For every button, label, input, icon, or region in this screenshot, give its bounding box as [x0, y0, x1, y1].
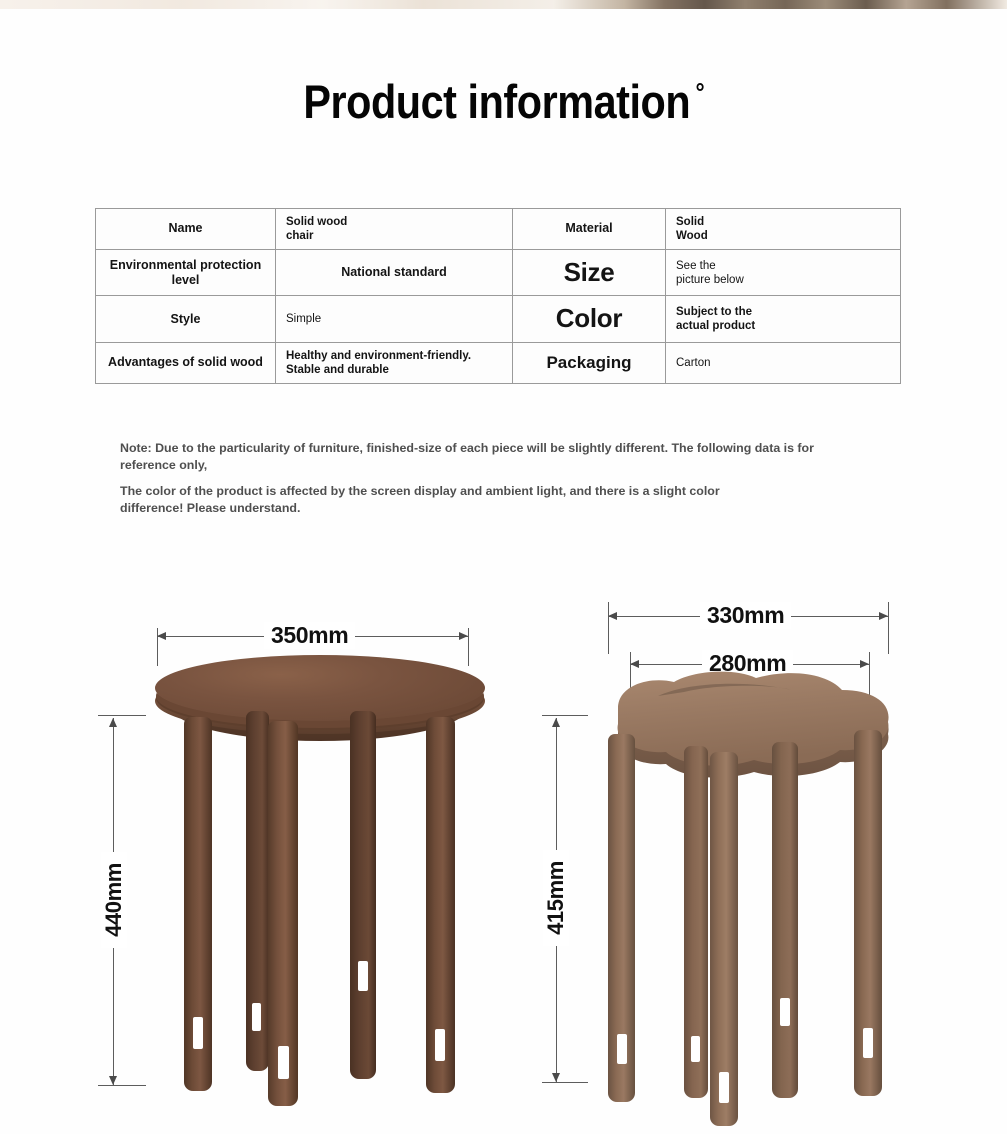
stool-leg-back-right [350, 711, 376, 1079]
spec-key-environmental-protection-level: Environmental protection level [96, 250, 276, 296]
spec-value-line: actual product [676, 319, 890, 333]
dim-arrow-right [459, 632, 468, 640]
spec-key-line: Advantages of [108, 355, 194, 369]
spec-value-color: Subject to the actual product [666, 296, 901, 342]
dim-ext-line-outer-left [608, 602, 609, 654]
leg-slot [719, 1072, 729, 1103]
page-title: Product information° [303, 74, 704, 129]
dim-arrow-outer-left [608, 612, 617, 620]
dim-arrow-inner-left [630, 660, 639, 668]
table-row: Name Solid wood chair Material Solid Woo… [96, 209, 901, 250]
leg-slot [278, 1046, 289, 1079]
spec-value-environmental-protection-level: National standard [276, 250, 513, 296]
stool-leg-front-right [426, 717, 455, 1093]
dim-arrow-left [157, 632, 166, 640]
dim-label-height-415: 415mm [543, 850, 569, 946]
spec-value-line: National standard [286, 265, 502, 280]
spec-value-line: chair [286, 229, 502, 243]
spec-value-line: Healthy and environment-friendly. [286, 349, 502, 363]
spec-value-name: Solid wood chair [276, 209, 513, 250]
spec-key-line: solid wood [198, 355, 263, 369]
spec-value-line: Carton [676, 356, 890, 370]
dim-arrow-inner-right [860, 660, 869, 668]
stool-leg-front-center [710, 752, 738, 1126]
spec-value-advantages: Healthy and environment-friendly. Stable… [276, 342, 513, 383]
spec-value-line: Subject to the [676, 305, 890, 319]
note-line: Note: Due to the particularity of furnit… [120, 440, 880, 457]
leg-slot [435, 1029, 445, 1061]
stool-seat-top [155, 655, 485, 721]
leg-slot [358, 961, 368, 991]
spec-value-line: Solid wood [286, 215, 502, 229]
spec-key-size: Size [513, 250, 666, 296]
cloud-stool-illustration [596, 668, 906, 1108]
table-row: Style Simple Color Subject to the actual… [96, 296, 901, 342]
product-information-page: Product information° Name Solid wood cha… [0, 0, 1007, 1134]
leg-slot [691, 1036, 700, 1062]
disclaimer-note: Note: Due to the particularity of furnit… [120, 440, 880, 517]
dim-label-width-330: 330mm [700, 602, 791, 629]
spec-value-line: Wood [676, 229, 890, 243]
dim-arrow-up [109, 718, 117, 727]
note-line: difference! Please understand. [120, 500, 880, 517]
note-paragraph-2: The color of the product is affected by … [120, 483, 880, 517]
leg-slot [252, 1003, 261, 1031]
dim-ext-line-outer-right [888, 602, 889, 654]
stool-leg-front-right [854, 730, 882, 1096]
spec-value-material: Solid Wood [666, 209, 901, 250]
spec-value-line: picture below [676, 273, 890, 287]
product-spec-table: Name Solid wood chair Material Solid Woo… [95, 208, 901, 384]
spec-value-packaging: Carton [666, 342, 901, 383]
dim-label-height-440: 440mm [101, 852, 127, 948]
dim-tick-bottom [542, 1082, 588, 1083]
dim-arrow-up [552, 718, 560, 727]
stool-leg-front-left [184, 717, 212, 1091]
stool-leg-front-left [608, 734, 635, 1102]
page-title-wrap: Product information° [0, 74, 1007, 129]
cropped-image-sliver [0, 0, 1007, 9]
page-title-degree-symbol: ° [695, 77, 704, 107]
spec-value-line: Simple [286, 312, 502, 326]
note-line: The color of the product is affected by … [120, 483, 880, 500]
dim-tick-bottom [98, 1085, 146, 1086]
page-title-text: Product information [303, 75, 690, 128]
stool-leg-front-center [268, 721, 298, 1106]
note-paragraph-1: Note: Due to the particularity of furnit… [120, 440, 880, 474]
dim-arrow-down [552, 1073, 560, 1082]
note-line: reference only, [120, 457, 880, 474]
leg-slot [617, 1034, 627, 1064]
dim-tick-top [542, 715, 588, 716]
leg-slot [193, 1017, 203, 1049]
spec-key-name: Name [96, 209, 276, 250]
table-row: Advantages of solid wood Healthy and env… [96, 342, 901, 383]
spec-key-color: Color [513, 296, 666, 342]
spec-value-line: See the [676, 259, 890, 273]
spec-key-style: Style [96, 296, 276, 342]
dim-arrow-outer-right [879, 612, 888, 620]
stool-leg-back-left [246, 711, 269, 1071]
dimension-diagram-area: 350mm 440mm [0, 560, 1007, 1134]
spec-value-size: See the picture below [666, 250, 901, 296]
spec-key-line: Environmental [110, 258, 197, 272]
spec-value-style: Simple [276, 296, 513, 342]
spec-key-material: Material [513, 209, 666, 250]
dim-arrow-down [109, 1076, 117, 1085]
leg-slot [780, 998, 790, 1026]
stool-leg-back-left [684, 746, 708, 1098]
dim-tick-top [98, 715, 146, 716]
round-stool-illustration [150, 655, 490, 1105]
spec-value-line: Solid [676, 215, 890, 229]
table-row: Environmental protection level National … [96, 250, 901, 296]
stool-leg-back-right [772, 742, 798, 1098]
dim-label-width-350: 350mm [264, 622, 355, 649]
spec-value-line: Stable and durable [286, 363, 502, 377]
leg-slot [863, 1028, 873, 1058]
spec-key-packaging: Packaging [513, 342, 666, 383]
spec-key-advantages-of-solid-wood: Advantages of solid wood [96, 342, 276, 383]
